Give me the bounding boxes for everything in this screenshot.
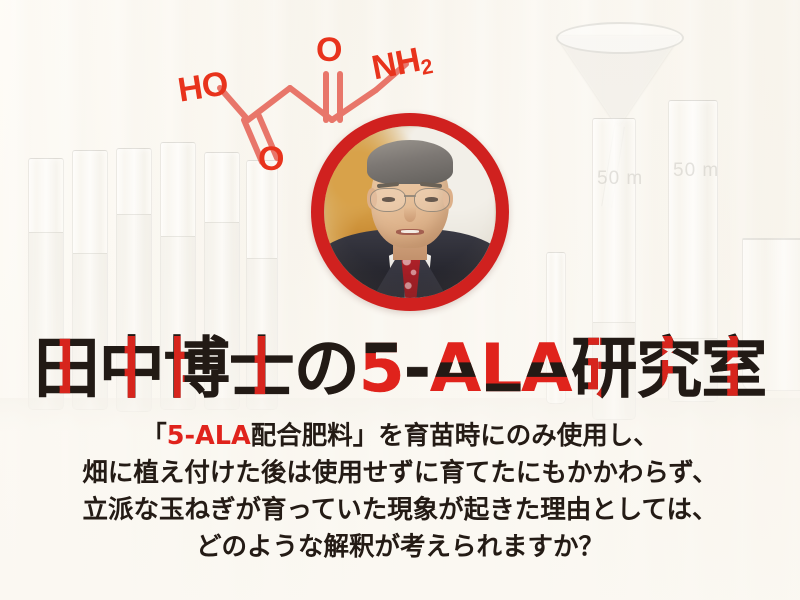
title-latin-3: L [480, 336, 521, 402]
title-latin-0: 5 [359, 336, 404, 402]
banner-root: 50 m 50 m [0, 0, 800, 600]
title-jp-tail: 研究室 [571, 330, 766, 407]
title-jp-head: 田中博士の [34, 330, 359, 407]
subtitle-text: 畑に植え付けた後は使用せずに育てたにもかかわらず、 [82, 458, 717, 488]
title-glyph-4: の [294, 336, 359, 402]
avatar [311, 113, 509, 311]
title-glyph-tail-1: 究 [636, 336, 701, 402]
title-glyph-3: 士 [229, 336, 294, 402]
title-latin: 5-ALA [359, 330, 572, 407]
title-glyph-1: 中 [99, 336, 164, 402]
chem-label-carbonyl-oxygen-upper: O [316, 31, 342, 70]
avatar-photo [324, 126, 496, 298]
photo-vignette [324, 126, 496, 298]
subtitle-line-1: 畑に植え付けた後は使用せずに育てたにもかかわらず、 [0, 455, 800, 492]
subtitle-text: 立派な玉ねぎが育っていた現象が起きた理由としては、 [83, 495, 718, 525]
title-latin-4: A [521, 336, 571, 402]
subtitle-text: 配合肥料」を育苗時にのみ使用し、 [251, 421, 659, 451]
subtitle-line-0: 「5-ALA配合肥料」を育苗時にのみ使用し、 [0, 418, 800, 455]
amine-text: NH [369, 41, 423, 87]
title-glyph-0: 田 [34, 336, 99, 402]
title-glyph-tail-2: 室 [701, 336, 766, 402]
subtitle-question: 「5-ALA配合肥料」を育苗時にのみ使用し、畑に植え付けた後は使用せずに育てたに… [0, 418, 800, 566]
subtitle-line-2: 立派な玉ねぎが育っていた現象が起きた理由としては、 [0, 492, 800, 529]
subtitle-text: どのような解釈が考えられますか？ [196, 532, 604, 562]
page-title: 田中博士の5-ALA研究室 [0, 336, 800, 402]
chem-label-hydroxyl: HO [175, 64, 230, 110]
subtitle-line-3: どのような解釈が考えられますか？ [0, 529, 800, 566]
chem-label-carbonyl-oxygen-lower: O [258, 140, 284, 179]
subtitle-highlight-5ala: 5-ALA [167, 421, 251, 451]
title-glyph-2: 博 [164, 336, 229, 402]
subtitle-bracket-open: 「 [141, 421, 167, 451]
title-latin-1: - [404, 336, 430, 402]
title-latin-2: A [430, 336, 480, 402]
title-glyph-tail-0: 研 [571, 336, 636, 402]
